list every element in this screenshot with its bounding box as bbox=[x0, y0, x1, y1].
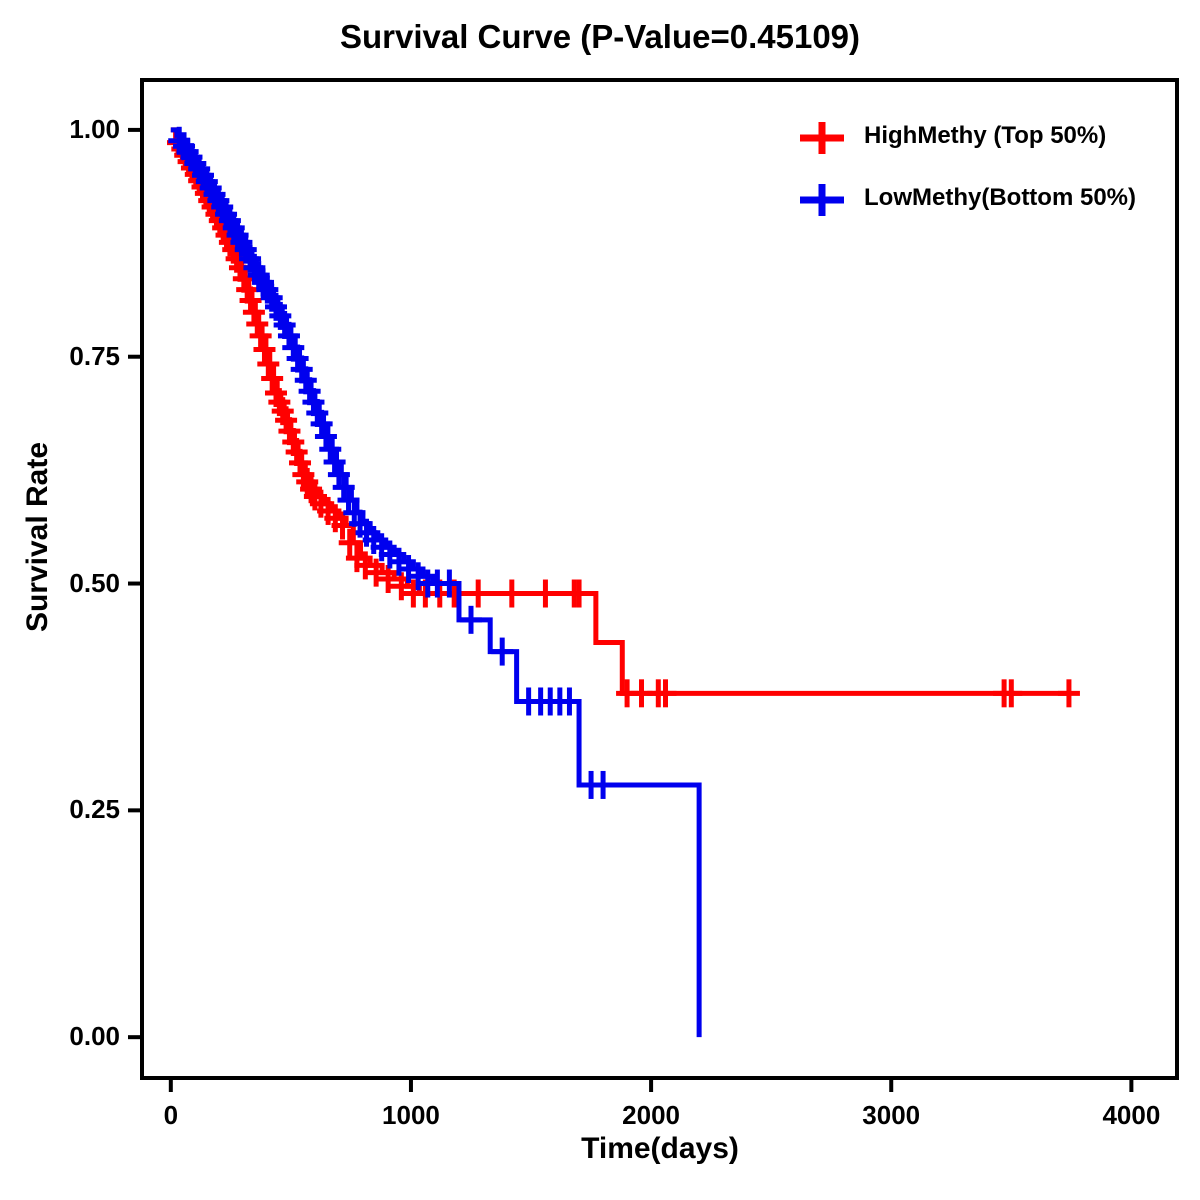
legend-item-0[interactable] bbox=[800, 122, 844, 154]
y-axis-title: Survival Rate bbox=[21, 407, 55, 667]
legend-label-0: HighMethy (Top 50%) bbox=[864, 122, 1106, 150]
series-low-methy bbox=[168, 127, 699, 1037]
x-tick-label: 2000 bbox=[581, 1100, 721, 1131]
plot-area bbox=[0, 0, 1200, 1200]
y-tick-label: 1.00 bbox=[10, 114, 120, 145]
survival-curve-figure: Survival Curve (P-Value=0.45109) Surviva… bbox=[0, 0, 1200, 1200]
survival-step-line bbox=[171, 130, 1069, 693]
y-tick-label: 0.00 bbox=[10, 1021, 120, 1052]
x-tick-label: 0 bbox=[101, 1100, 241, 1131]
x-axis-title: Time(days) bbox=[142, 1132, 1178, 1166]
x-tick-label: 1000 bbox=[341, 1100, 481, 1131]
y-tick-label: 0.75 bbox=[10, 341, 120, 372]
x-tick-label: 4000 bbox=[1061, 1100, 1200, 1131]
x-tick-label: 3000 bbox=[821, 1100, 961, 1131]
y-tick-label: 0.25 bbox=[10, 794, 120, 825]
plot-frame bbox=[142, 80, 1177, 1078]
legend-label-1: LowMethy(Bottom 50%) bbox=[864, 184, 1136, 212]
series-high-methy bbox=[167, 129, 1080, 708]
y-tick-label: 0.50 bbox=[10, 568, 120, 599]
legend-item-1[interactable] bbox=[800, 184, 844, 216]
